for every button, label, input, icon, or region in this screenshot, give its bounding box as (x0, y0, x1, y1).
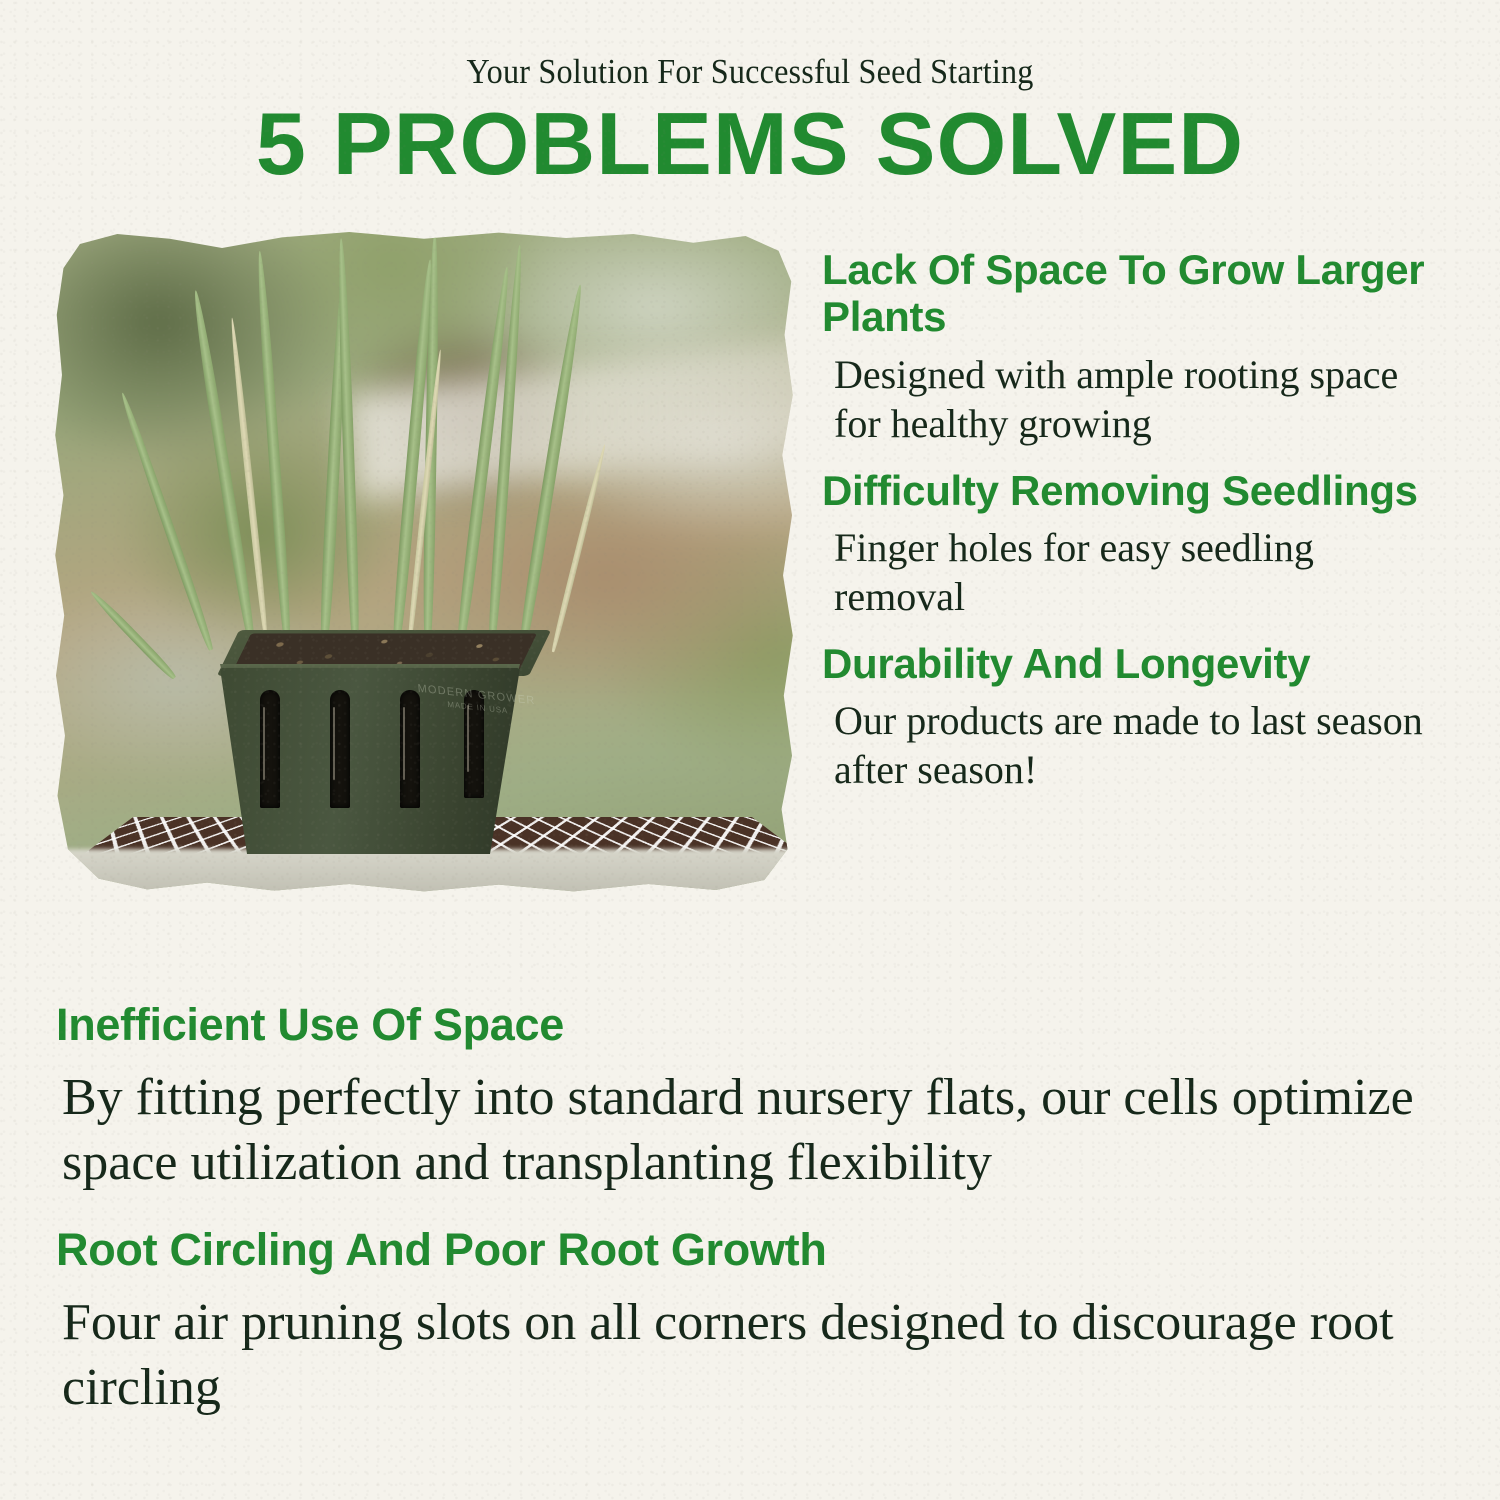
problem-body: Our products are made to last season aft… (834, 697, 1452, 795)
problems-bottom-section: Inefficient Use Of Space By fitting perf… (56, 1000, 1446, 1450)
problem-item: Durability And Longevity Our products ar… (822, 640, 1452, 795)
problem-item: Inefficient Use Of Space By fitting perf… (56, 1000, 1446, 1195)
problem-heading: Durability And Longevity (822, 640, 1452, 687)
air-pruning-slot (330, 690, 350, 808)
problem-body: Four air pruning slots on all corners de… (62, 1290, 1446, 1420)
problem-body: Designed with ample rooting space for he… (834, 351, 1452, 449)
page-subtitle: Your Solution For Successful Seed Starti… (60, 52, 1440, 92)
photo-content: Onion MODERN GROWER MADE IN USA (50, 228, 798, 896)
page-title: 5 PROBLEMS SOLVED (0, 100, 1500, 188)
problem-heading: Inefficient Use Of Space (56, 1000, 1446, 1051)
problem-heading: Lack Of Space To Grow Larger Plants (822, 246, 1452, 341)
problem-item: Root Circling And Poor Root Growth Four … (56, 1225, 1446, 1420)
air-pruning-slot (400, 690, 420, 808)
air-pruning-slot (260, 690, 280, 808)
problem-heading: Difficulty Removing Seedlings (822, 467, 1452, 514)
problem-heading: Root Circling And Poor Root Growth (56, 1225, 1446, 1276)
problem-body: Finger holes for easy seedling removal (834, 524, 1452, 622)
problems-right-column: Lack Of Space To Grow Larger Plants Desi… (822, 246, 1452, 813)
problem-item: Lack Of Space To Grow Larger Plants Desi… (822, 246, 1452, 449)
problem-body: By fitting perfectly into standard nurse… (62, 1065, 1446, 1195)
seed-starting-tray: MODERN GROWER MADE IN USA (220, 616, 550, 861)
product-photo: Onion MODERN GROWER MADE IN USA (50, 228, 798, 896)
problem-item: Difficulty Removing Seedlings Finger hol… (822, 467, 1452, 622)
